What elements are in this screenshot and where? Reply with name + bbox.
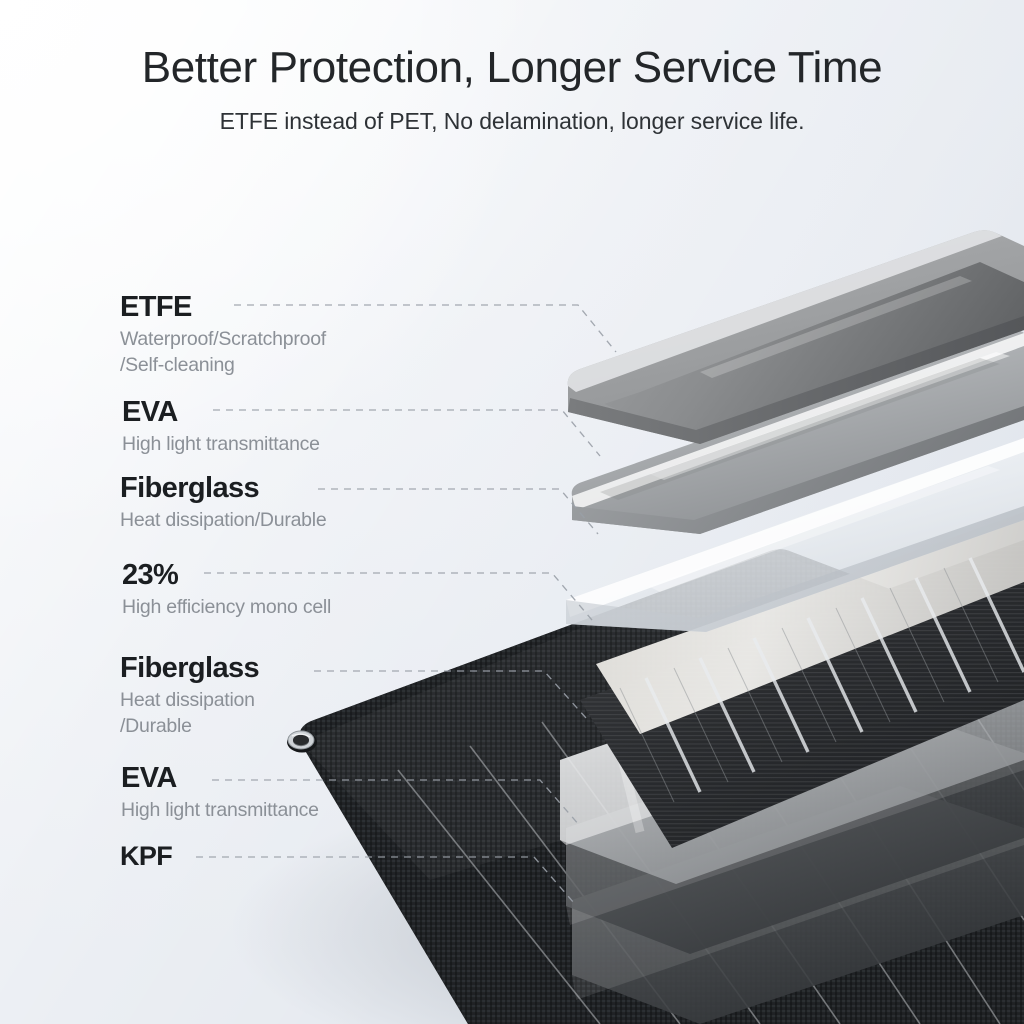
layer-label-title: 23% xyxy=(122,561,331,590)
layer-label-title: KPF xyxy=(120,843,172,870)
layer-label-desc: High efficiency mono cell xyxy=(122,595,331,621)
layer-label-title: EVA xyxy=(121,764,319,793)
page-title: Better Protection, Longer Service Time xyxy=(0,42,1024,94)
layer-label-etfe-1: ETFE Waterproof/Scratchproof /Self-clean… xyxy=(120,293,326,378)
layer-label-fiberglass-2: Fiberglass Heat dissipation /Durable xyxy=(120,654,259,739)
layer-label-title: Fiberglass xyxy=(120,474,326,503)
layer-label-eva-2: EVA High light transmittance xyxy=(121,764,319,824)
header: Better Protection, Longer Service Time E… xyxy=(0,42,1024,135)
page-subtitle: ETFE instead of PET, No delamination, lo… xyxy=(0,108,1024,135)
layer-label-desc: Heat dissipation/Durable xyxy=(120,508,326,534)
layer-label-desc: High light transmittance xyxy=(121,798,319,824)
layer-label-title: ETFE xyxy=(120,293,326,322)
layer-label-kpf: KPF xyxy=(120,843,172,870)
leader-fiberglass-1 xyxy=(318,489,598,534)
layer-label-fiberglass-1: Fiberglass Heat dissipation/Durable xyxy=(120,474,326,534)
layer-label-desc: High light transmittance xyxy=(122,432,320,458)
layer-label-efficiency: 23% High efficiency mono cell xyxy=(122,561,331,621)
layer-label-eva-1: EVA High light transmittance xyxy=(122,398,320,458)
layer-label-desc: Heat dissipation /Durable xyxy=(120,688,259,739)
layer-label-title: Fiberglass xyxy=(120,654,259,683)
layer-label-title: EVA xyxy=(122,398,320,427)
layer-label-desc: Waterproof/Scratchproof /Self-cleaning xyxy=(120,327,326,378)
